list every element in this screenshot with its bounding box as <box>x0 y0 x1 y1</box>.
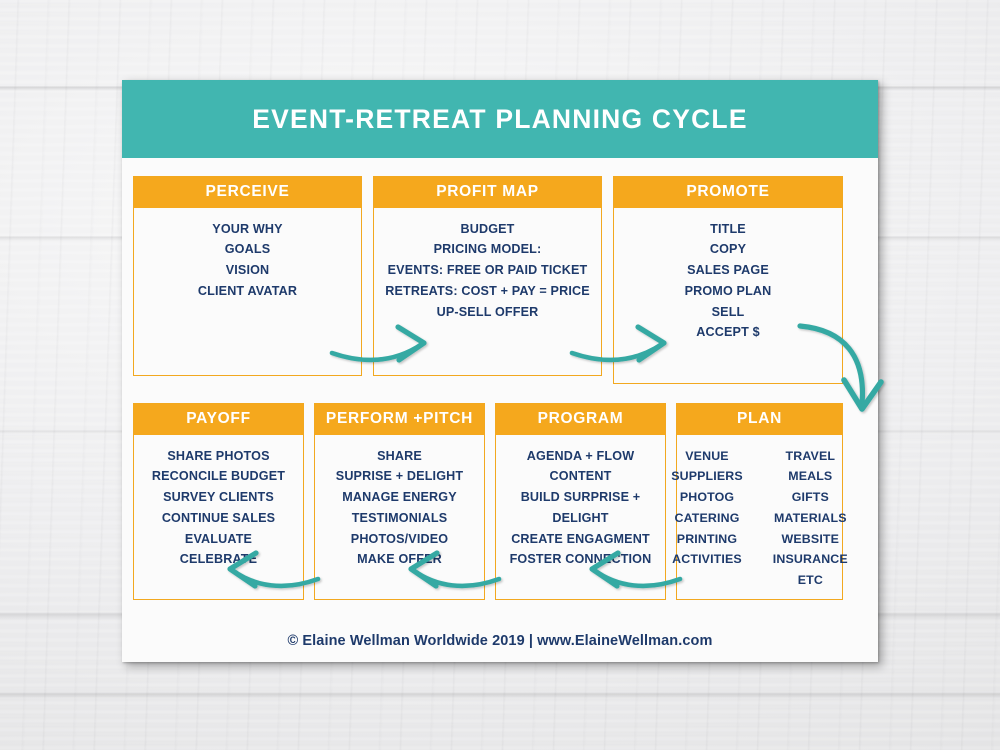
list-item: WEBSITE <box>773 529 848 550</box>
stage-heading-plan: PLAN <box>677 404 842 435</box>
list-item: PROMO PLAN <box>614 281 842 302</box>
list-item: CATERING <box>671 508 743 529</box>
list-item: EVENTS: FREE OR PAID TICKET <box>374 260 601 281</box>
title-band: EVENT-RETREAT PLANNING CYCLE <box>122 80 878 158</box>
list-item: SELL <box>614 302 842 323</box>
stage-box-program[interactable]: PROGRAM AGENDA + FLOW CONTENT BUILD SURP… <box>495 403 666 600</box>
list-item: CREATE ENGAGMENT <box>496 529 665 550</box>
stage-items-promote: TITLE COPY SALES PAGE PROMO PLAN SELL AC… <box>614 208 842 384</box>
stage-items-plan-column-left: VENUE SUPPLIERS PHOTOG CATERING PRINTING… <box>671 446 743 600</box>
list-item: RETREATS: COST + PAY = PRICE <box>374 281 601 302</box>
stage-items-profit-map: BUDGET PRICING MODEL: EVENTS: FREE OR PA… <box>374 208 601 376</box>
list-item: SUPRISE + DELIGHT <box>315 466 484 487</box>
list-item: SALES PAGE <box>614 260 842 281</box>
infographic-card: EVENT-RETREAT PLANNING CYCLE PERCEIVE YO… <box>122 80 878 662</box>
stage-box-profit-map[interactable]: PROFIT MAP BUDGET PRICING MODEL: EVENTS:… <box>373 176 602 376</box>
list-item: BUDGET <box>374 219 601 240</box>
list-item: EVALUATE <box>134 529 303 550</box>
list-item: CELEBRATE <box>134 549 303 570</box>
list-item: BUILD SURPRISE + <box>496 487 665 508</box>
stage-box-perceive[interactable]: PERCEIVE YOUR WHY GOALS VISION CLIENT AV… <box>133 176 362 376</box>
stage-heading-profit-map: PROFIT MAP <box>374 177 601 208</box>
list-item: MANAGE ENERGY <box>315 487 484 508</box>
list-item: ACCEPT $ <box>614 322 842 343</box>
list-item: MATERIALS <box>773 508 848 529</box>
stage-box-payoff[interactable]: PAYOFF SHARE PHOTOS RECONCILE BUDGET SUR… <box>133 403 304 600</box>
stage-box-perform-pitch[interactable]: PERFORM +PITCH SHARE SUPRISE + DELIGHT M… <box>314 403 485 600</box>
list-item: PRICING MODEL: <box>374 239 601 260</box>
list-item: VENUE <box>671 446 743 467</box>
page-title: EVENT-RETREAT PLANNING CYCLE <box>252 104 747 135</box>
stage-items-perceive: YOUR WHY GOALS VISION CLIENT AVATAR <box>134 208 361 376</box>
list-item: TRAVEL <box>773 446 848 467</box>
list-item: SHARE PHOTOS <box>134 446 303 467</box>
stage-heading-promote: PROMOTE <box>614 177 842 208</box>
list-item: UP-SELL OFFER <box>374 302 601 323</box>
list-item: RECONCILE BUDGET <box>134 466 303 487</box>
list-item: SHARE <box>315 446 484 467</box>
list-item: PHOTOS/VIDEO <box>315 529 484 550</box>
stage-heading-perceive: PERCEIVE <box>134 177 361 208</box>
list-item: COPY <box>614 239 842 260</box>
list-item: PRINTING <box>671 529 743 550</box>
list-item: AGENDA + FLOW <box>496 446 665 467</box>
list-item: MAKE OFFER <box>315 549 484 570</box>
list-item: FOSTER CONNECTION <box>496 549 665 570</box>
list-item: CONTENT <box>496 466 665 487</box>
list-item: INSURANCE <box>773 549 848 570</box>
list-item: VISION <box>134 260 361 281</box>
list-item: SURVEY CLIENTS <box>134 487 303 508</box>
list-item: CLIENT AVATAR <box>134 281 361 302</box>
stage-heading-payoff: PAYOFF <box>134 404 303 435</box>
stage-items-payoff: SHARE PHOTOS RECONCILE BUDGET SURVEY CLI… <box>134 435 303 600</box>
list-item: MEALS <box>773 466 848 487</box>
stage-heading-perform-pitch: PERFORM +PITCH <box>315 404 484 435</box>
stage-heading-program: PROGRAM <box>496 404 665 435</box>
stage-box-promote[interactable]: PROMOTE TITLE COPY SALES PAGE PROMO PLAN… <box>613 176 843 384</box>
copyright-footer: © Elaine Wellman Worldwide 2019 | www.El… <box>122 633 878 649</box>
list-item: SUPPLIERS <box>671 466 743 487</box>
list-item: DELIGHT <box>496 508 665 529</box>
stage-items-plan-column-right: TRAVEL MEALS GIFTS MATERIALS WEBSITE INS… <box>773 446 848 600</box>
stage-items-perform-pitch: SHARE SUPRISE + DELIGHT MANAGE ENERGY TE… <box>315 435 484 600</box>
list-item: CONTINUE SALES <box>134 508 303 529</box>
list-item: ACTIVITIES <box>671 549 743 570</box>
stage-items-plan: VENUE SUPPLIERS PHOTOG CATERING PRINTING… <box>677 435 842 600</box>
list-item: GIFTS <box>773 487 848 508</box>
list-item: TESTIMONIALS <box>315 508 484 529</box>
diagram-body: PERCEIVE YOUR WHY GOALS VISION CLIENT AV… <box>122 158 878 662</box>
stage-box-plan[interactable]: PLAN VENUE SUPPLIERS PHOTOG CATERING PRI… <box>676 403 843 600</box>
list-item: YOUR WHY <box>134 219 361 240</box>
list-item: ETC <box>773 570 848 591</box>
list-item: PHOTOG <box>671 487 743 508</box>
list-item: TITLE <box>614 219 842 240</box>
list-item: GOALS <box>134 239 361 260</box>
stage-items-program: AGENDA + FLOW CONTENT BUILD SURPRISE + D… <box>496 435 665 600</box>
